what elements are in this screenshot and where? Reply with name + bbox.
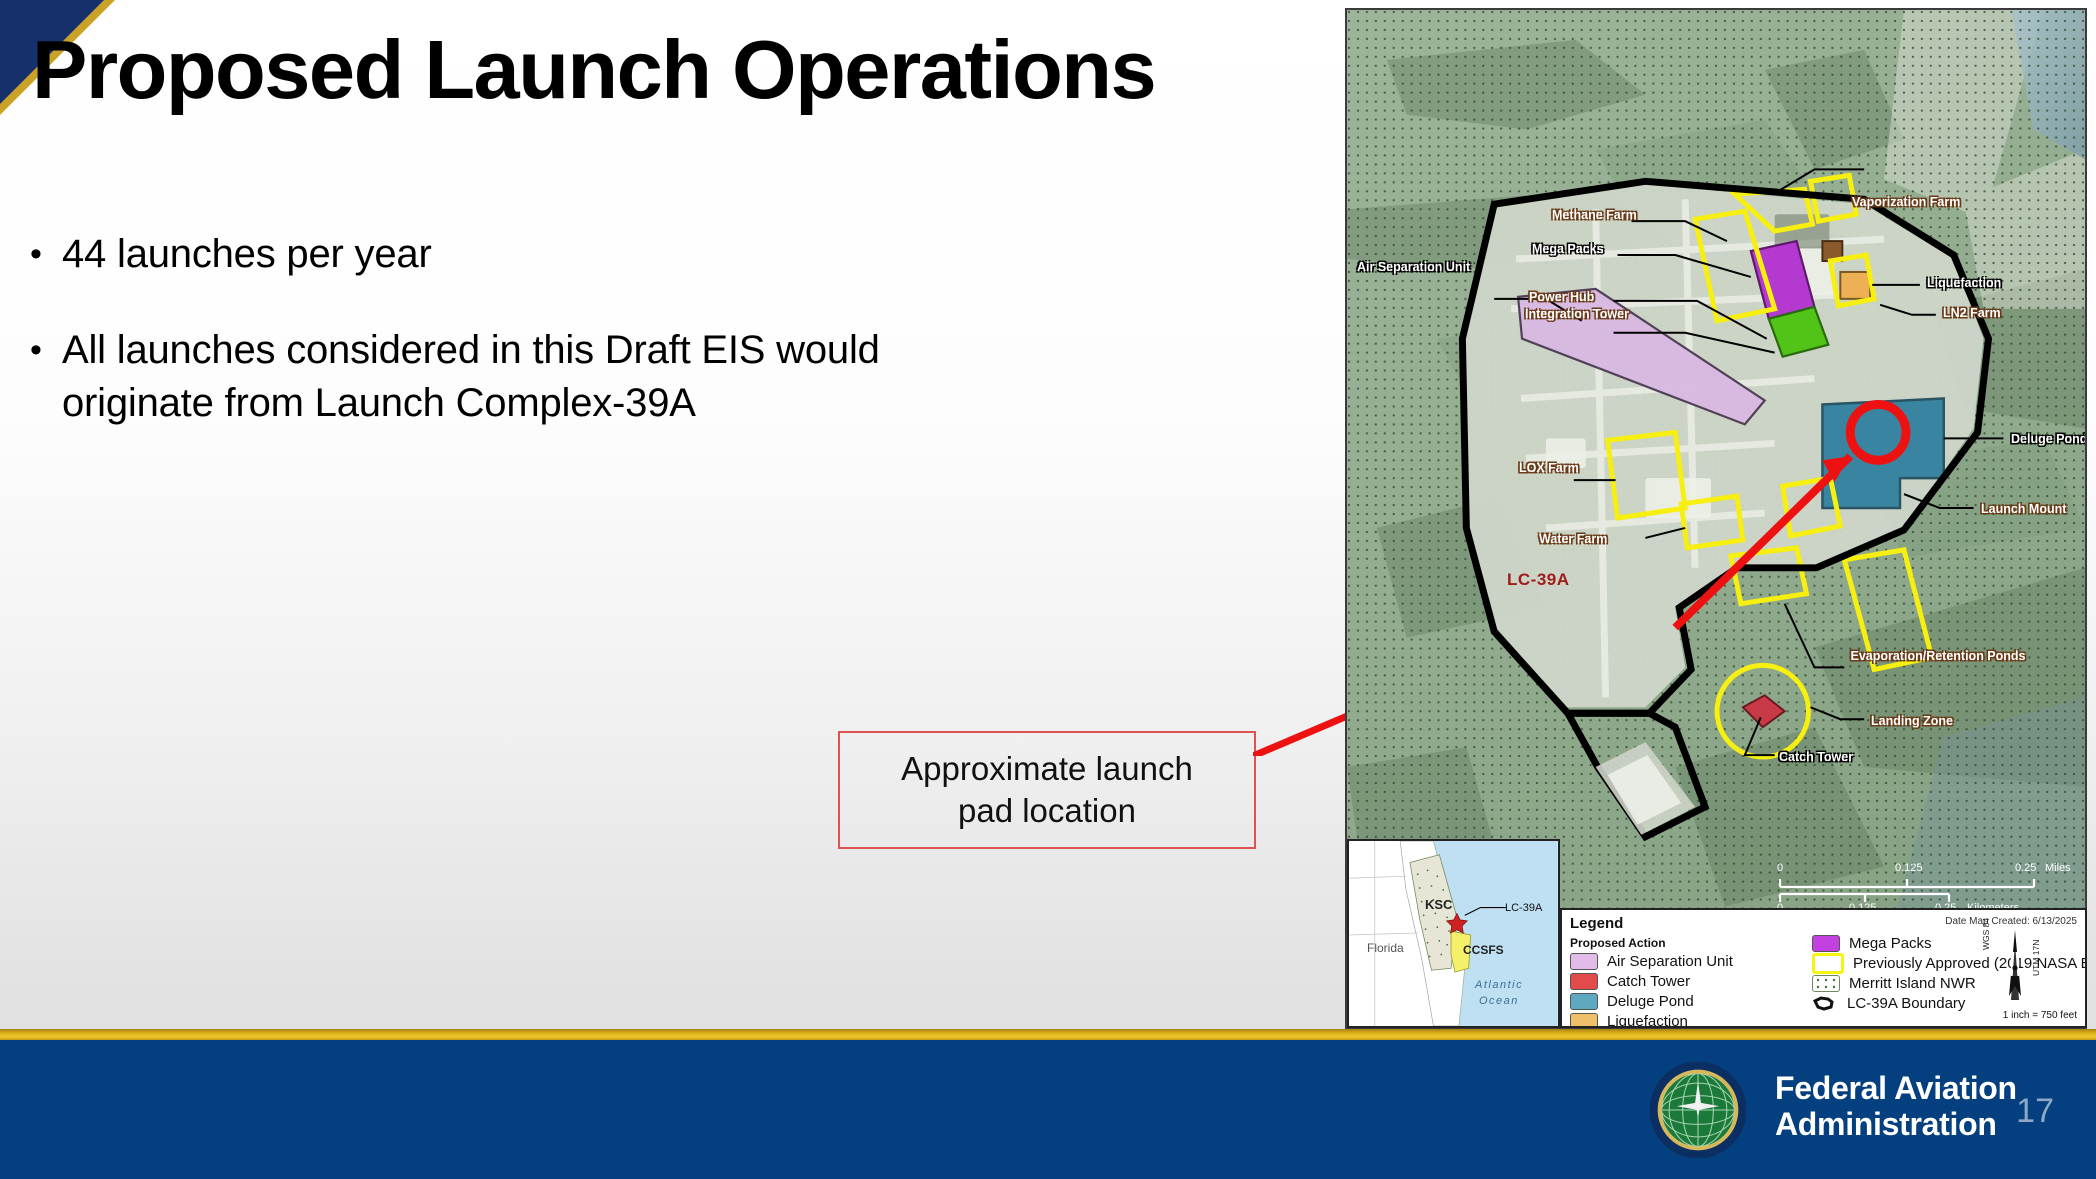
presentation-slide: Proposed Launch Operations • 44 launches… — [0, 0, 2096, 1179]
bullet-list: • 44 launches per year • All launches co… — [30, 228, 990, 473]
legend-item: Catch Tower — [1570, 972, 1733, 991]
legend-label: Mega Packs — [1849, 935, 1932, 952]
legend-swatch-previously-approved — [1812, 953, 1844, 974]
legend-swatch-air-separation-unit — [1570, 953, 1598, 970]
legend-column-one: Air Separation Unit Catch Tower Deluge P… — [1570, 952, 1733, 1028]
legend-item: Liquefaction — [1570, 1012, 1733, 1028]
legend-item: Air Separation Unit — [1570, 952, 1733, 971]
legend-item: Merritt Island NWR — [1812, 974, 2087, 993]
legend-label: Air Separation Unit — [1607, 953, 1733, 970]
faa-line-1: Federal Aviation — [1775, 1071, 2017, 1107]
inset-label-ccsfs: CCSFS — [1463, 943, 1504, 957]
bullet-marker: • — [30, 324, 62, 431]
callout-text: Approximate launch pad location — [901, 748, 1193, 832]
callout-line-1: Approximate launch — [901, 750, 1193, 787]
list-item: • All launches considered in this Draft … — [30, 324, 990, 431]
inset-label-ksc: KSC — [1425, 897, 1452, 912]
footer-gold-accent — [0, 1029, 2096, 1040]
legend-title: Legend — [1570, 915, 1623, 932]
north-arrow: WGS 84 UTM 17N — [1985, 924, 2041, 1014]
list-item: • 44 launches per year — [30, 228, 990, 282]
inset-label-ocean-line1: Atlantic — [1475, 979, 1523, 991]
legend-swatch-merritt-island-nwr — [1812, 975, 1840, 992]
legend-label: Merritt Island NWR — [1849, 975, 1976, 992]
faa-seal-icon — [1650, 1062, 1746, 1158]
map-legend: Legend Date Map Created: 6/13/2025 Propo… — [1560, 908, 2087, 1028]
inset-label-lc39a-callout: LC-39A — [1505, 902, 1542, 914]
legend-swatch-liquefaction — [1570, 1013, 1598, 1028]
faa-line-2: Administration — [1775, 1107, 2017, 1143]
north-arrow-datum-left: WGS 84 — [1981, 918, 1991, 950]
legend-item: Mega Packs — [1812, 934, 2087, 953]
legend-subheading: Proposed Action — [1570, 936, 1666, 950]
legend-label: Previously Approved (2019 NASA EA) — [1853, 955, 2087, 972]
callout-line-2: pad location — [958, 792, 1136, 829]
legend-item: Previously Approved (2019 NASA EA) — [1812, 954, 2087, 973]
legend-label: LC-39A Boundary — [1847, 995, 1965, 1012]
legend-item: Deluge Pond — [1570, 992, 1733, 1011]
bullet-text: 44 launches per year — [62, 228, 432, 282]
legend-swatch-mega-packs — [1812, 935, 1840, 952]
callout-box: Approximate launch pad location — [838, 731, 1256, 849]
bullet-text: All launches considered in this Draft EI… — [62, 324, 990, 431]
legend-swatch-lc39a-boundary — [1812, 996, 1838, 1011]
inset-label-florida: Florida — [1367, 941, 1404, 955]
bullet-marker: • — [30, 228, 62, 282]
locator-inset-map: KSC CCSFS Florida Atlantic Ocean LC-39A — [1347, 839, 1560, 1028]
legend-column-two: Mega Packs Previously Approved (2019 NAS… — [1812, 934, 2087, 1014]
page-title: Proposed Launch Operations — [32, 26, 1155, 113]
inset-graphic — [1349, 841, 1558, 1026]
faa-wordmark: Federal Aviation Administration — [1775, 1071, 2017, 1143]
legend-label: Liquefaction — [1607, 1013, 1688, 1028]
legend-scale-note: 1 inch = 750 feet — [2003, 1010, 2077, 1021]
map-polygon-liquefaction — [1840, 272, 1870, 299]
legend-swatch-deluge-pond — [1570, 993, 1598, 1010]
legend-label: Deluge Pond — [1607, 993, 1694, 1010]
footer-bar: Federal Aviation Administration 17 — [0, 1040, 2096, 1179]
legend-label: Catch Tower — [1607, 973, 1690, 990]
page-number: 17 — [2016, 1092, 2054, 1131]
inset-label-ocean-line2: Ocean — [1479, 995, 1519, 1007]
north-arrow-datum-right: UTM 17N — [2031, 940, 2041, 976]
legend-swatch-catch-tower — [1570, 973, 1598, 990]
